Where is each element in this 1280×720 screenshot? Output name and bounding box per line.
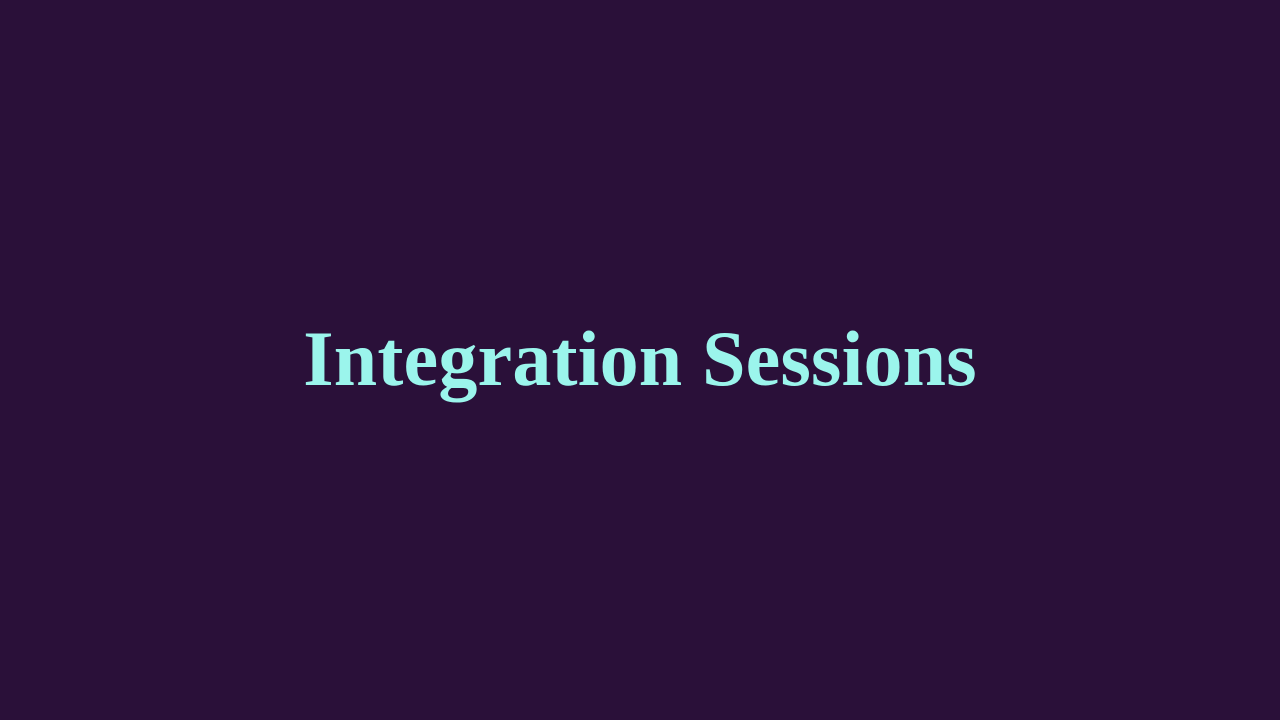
slide-title: Integration Sessions (243, 314, 1037, 404)
title-slide: Integration Sessions (0, 0, 1280, 720)
